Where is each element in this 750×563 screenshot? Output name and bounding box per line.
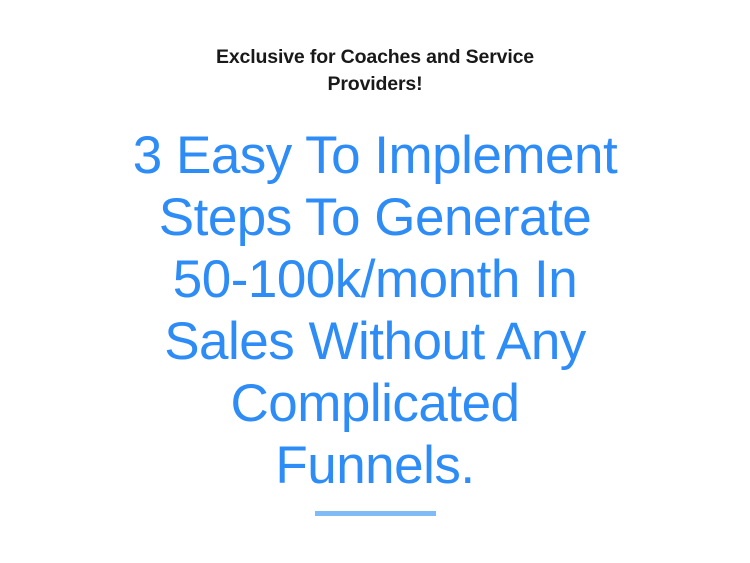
page-title: 3 Easy To Implement Steps To Generate 50… [130, 98, 620, 497]
headline-divider-container [60, 511, 690, 516]
headline-underline-divider [315, 511, 436, 516]
hero-eyebrow: Exclusive for Coaches and Service Provid… [179, 0, 571, 98]
hero-section: Exclusive for Coaches and Service Provid… [0, 0, 750, 516]
